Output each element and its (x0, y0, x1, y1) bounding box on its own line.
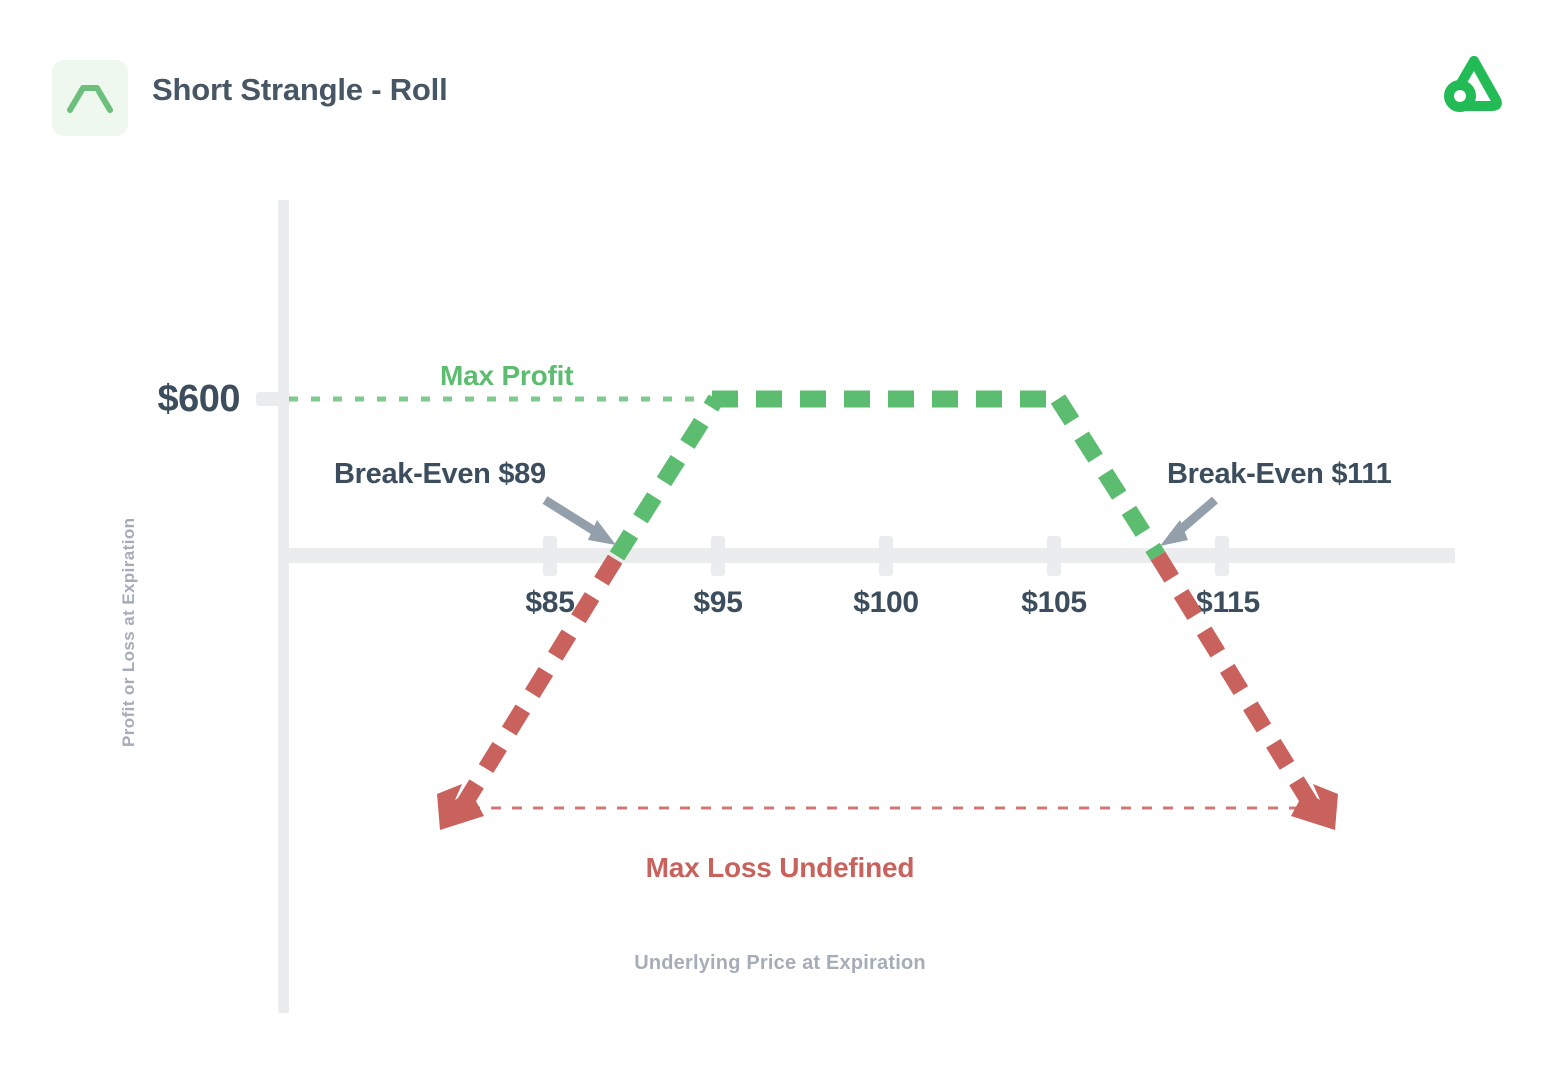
payoff-curve-svg (0, 0, 1560, 1070)
break-even-right-annotation: Break-Even $111 (1167, 458, 1391, 491)
break-even-right-arrow-icon (1160, 500, 1215, 546)
break-even-left-annotation: Break-Even $89 (334, 458, 546, 491)
payoff-segment-profit-fall (1058, 399, 1158, 556)
payoff-chart: $600 $85 $95 $100 $105 $115 Profit or Lo… (0, 0, 1560, 1070)
max-loss-annotation: Max Loss Undefined (0, 852, 1560, 884)
max-profit-annotation: Max Profit (440, 360, 573, 392)
break-even-left-arrow-icon (545, 500, 616, 545)
payoff-segment-loss-left (463, 556, 617, 806)
payoff-segment-profit-rise (617, 399, 716, 556)
payoff-segment-loss-right (1158, 556, 1312, 806)
